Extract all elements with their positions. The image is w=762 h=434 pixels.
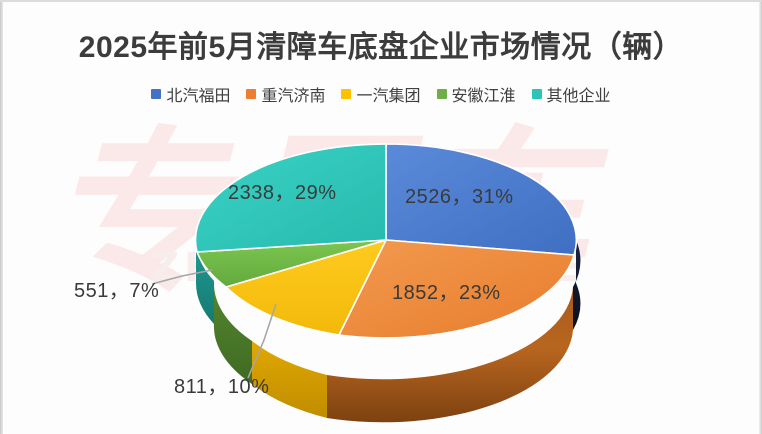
legend-label: 重汽济南	[261, 82, 325, 106]
pie-chart-figure: 专用车 ZHUANYONGCHE 2025年前5月清障车底盘企业市场情况（辆） …	[0, 0, 762, 434]
legend-item-yiqi-jituan[interactable]: 一汽集团	[341, 82, 420, 106]
square-swatch-icon	[437, 89, 447, 99]
data-label-qita-qiye: 2338，29%	[228, 176, 337, 205]
legend-label: 一汽集团	[356, 82, 420, 106]
data-label-zhongqi-jinan: 1852，23%	[392, 276, 501, 305]
legend-label: 其他企业	[547, 82, 611, 106]
data-label-yiqi-jituan: 811，10%	[174, 370, 269, 399]
chart-title: 2025年前5月清障车底盘企业市场情况（辆）	[0, 22, 762, 66]
pie-top-slices	[196, 144, 577, 338]
square-swatch-icon	[341, 89, 351, 99]
data-label-beiqi-futian: 2526，31%	[405, 180, 514, 209]
square-swatch-icon	[151, 89, 161, 99]
legend-label: 北汽福田	[166, 82, 230, 106]
legend-item-zhongqi-jinan[interactable]: 重汽济南	[246, 82, 325, 106]
data-label-anhui-jianghuai: 551，7%	[74, 274, 159, 303]
legend-label: 安徽江淮	[452, 82, 516, 106]
legend-item-beiqi-futian[interactable]: 北汽福田	[151, 82, 230, 106]
square-swatch-icon	[246, 89, 256, 99]
legend-item-anhui-jianghuai[interactable]: 安徽江淮	[437, 82, 516, 106]
legend-item-qita-qiye[interactable]: 其他企业	[532, 82, 611, 106]
chart-legend: 北汽福田 重汽济南 一汽集团 安徽江淮 其他企业	[0, 82, 762, 106]
square-swatch-icon	[532, 89, 542, 99]
